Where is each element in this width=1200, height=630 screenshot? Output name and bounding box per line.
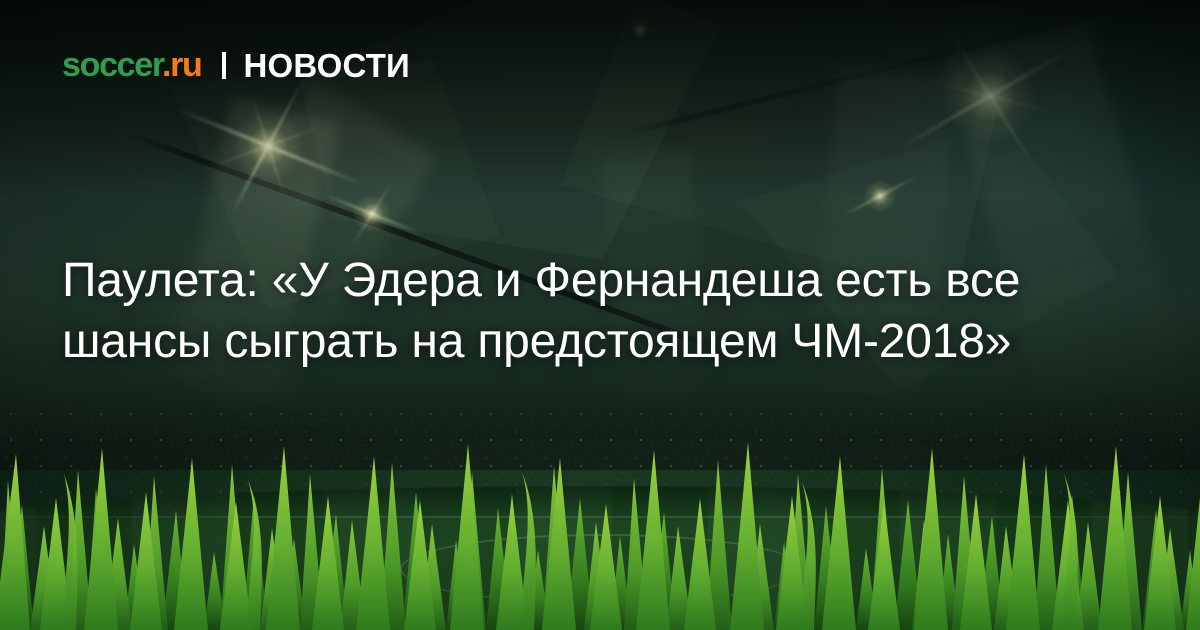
pitch-shading	[0, 486, 1200, 630]
site-header: soccer.ru НОВОСТИ	[62, 48, 410, 82]
football-pitch	[0, 486, 1200, 630]
logo-tld: .ru	[162, 46, 202, 84]
logo-word: soccer	[62, 46, 162, 84]
soccer-ru-logo[interactable]: soccer.ru	[62, 48, 202, 82]
news-card: soccer.ru НОВОСТИ Паулета: «У Эдера и Фе…	[0, 0, 1200, 630]
header-separator	[222, 52, 226, 79]
section-label: НОВОСТИ	[244, 49, 410, 82]
page-title: Паулета: «У Эдера и Фернандеша есть все …	[62, 250, 1072, 372]
